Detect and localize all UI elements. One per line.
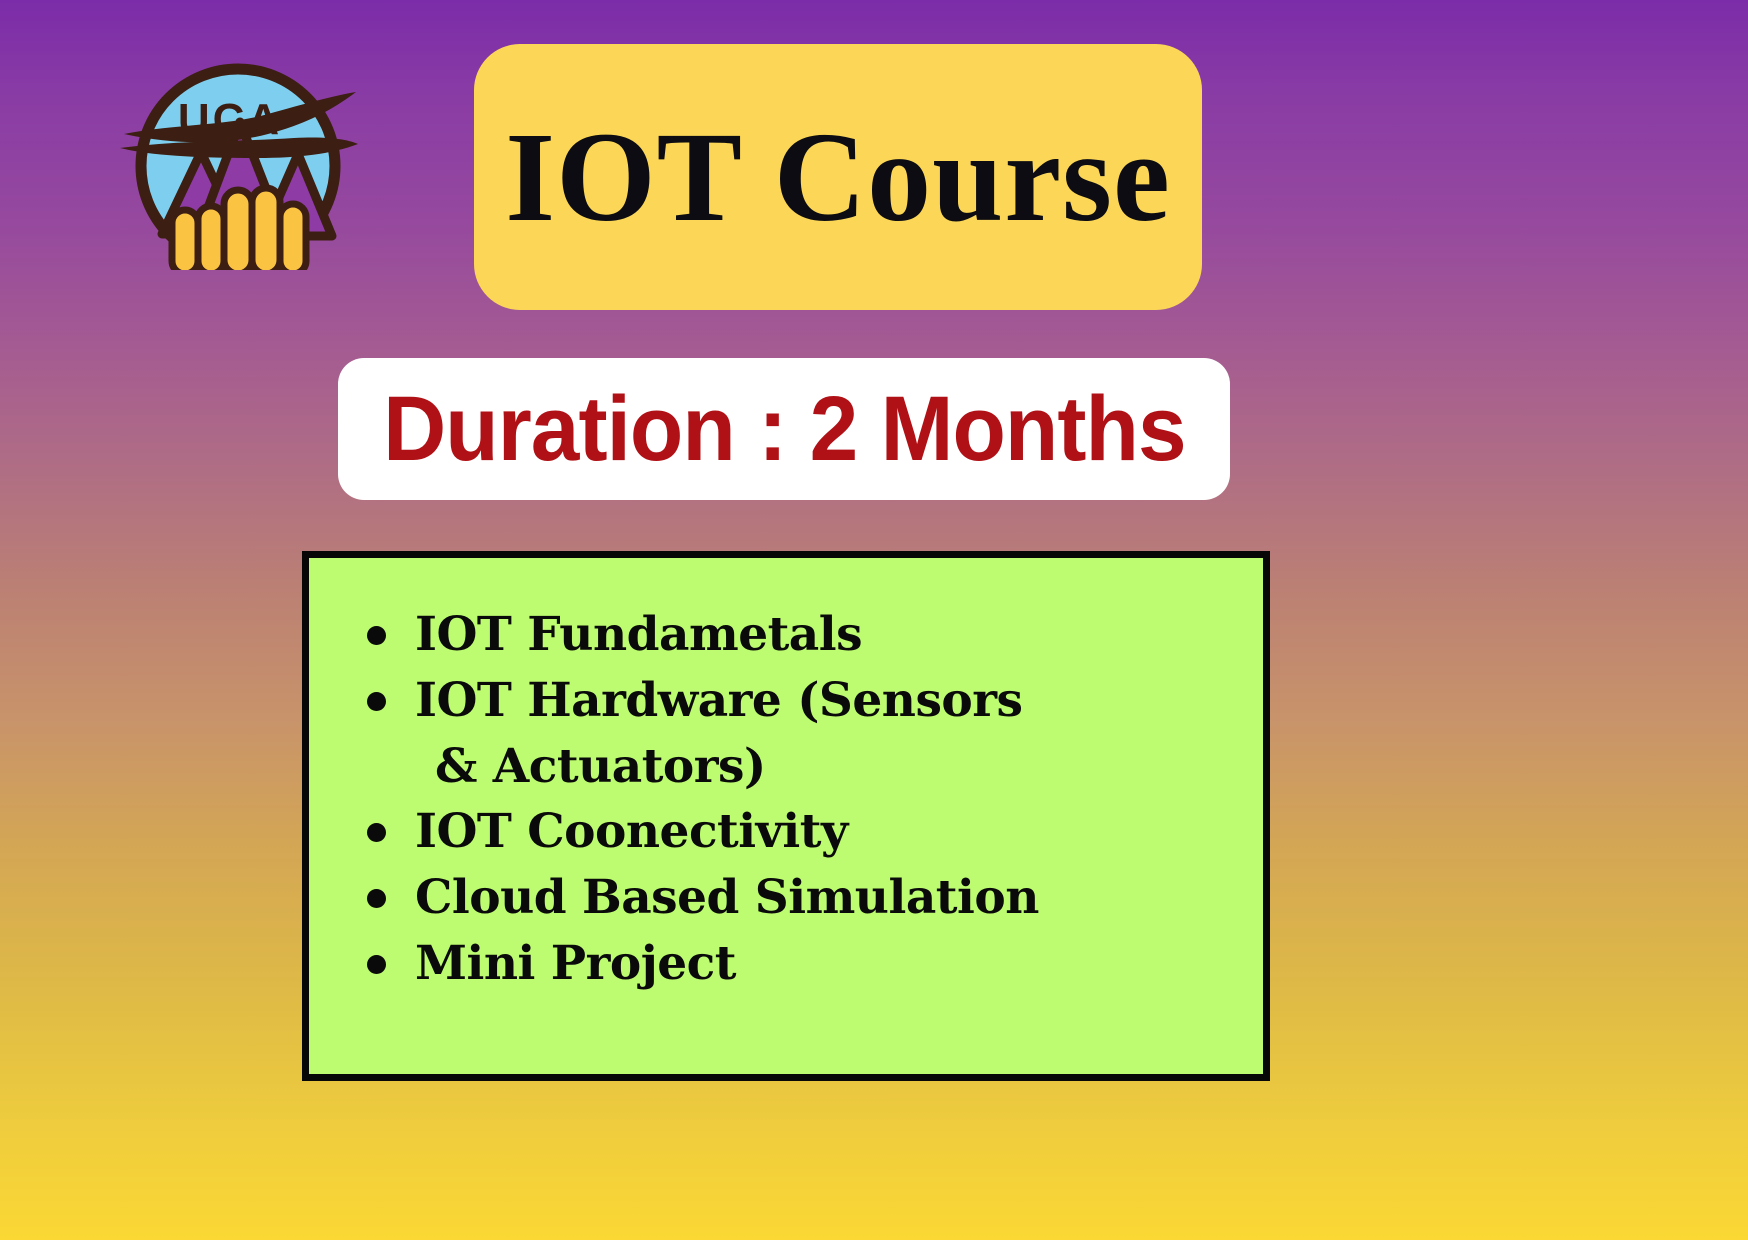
- topics-list: IOT Fundametals IOT Hardware (Sensors & …: [309, 558, 1263, 997]
- list-item: IOT Fundametals: [345, 602, 1263, 668]
- list-item: Mini Project: [345, 931, 1263, 997]
- topic-label: IOT Fundametals: [415, 607, 862, 662]
- topics-box: IOT Fundametals IOT Hardware (Sensors & …: [302, 551, 1270, 1081]
- list-item: Cloud Based Simulation: [345, 865, 1263, 931]
- topic-label-continued: & Actuators): [415, 734, 1263, 800]
- duration-banner: Duration : 2 Months: [338, 358, 1230, 500]
- topic-label: IOT Coonectivity: [415, 804, 848, 859]
- logo-acronym-text: UCA: [178, 95, 282, 144]
- list-item: IOT Hardware (Sensors & Actuators): [345, 668, 1263, 800]
- topic-label: Cloud Based Simulation: [415, 870, 1039, 925]
- bullet-icon: [367, 692, 386, 711]
- bullet-icon: [367, 626, 386, 645]
- course-poster: UCA IOT Course Duration : 2 Months IOT F…: [0, 0, 1748, 1240]
- topic-label: IOT Hardware (Sensors: [415, 673, 1022, 728]
- bullet-icon: [367, 955, 386, 974]
- list-item: IOT Coonectivity: [345, 799, 1263, 865]
- bullet-icon: [367, 823, 386, 842]
- uca-logo-icon: UCA: [118, 48, 358, 270]
- page-title: IOT Course: [505, 113, 1171, 241]
- duration-text: Duration : 2 Months: [383, 383, 1185, 475]
- topic-label: Mini Project: [415, 936, 736, 991]
- uca-logo: UCA: [118, 48, 358, 270]
- bullet-icon: [367, 889, 386, 908]
- course-title-banner: IOT Course: [474, 44, 1202, 310]
